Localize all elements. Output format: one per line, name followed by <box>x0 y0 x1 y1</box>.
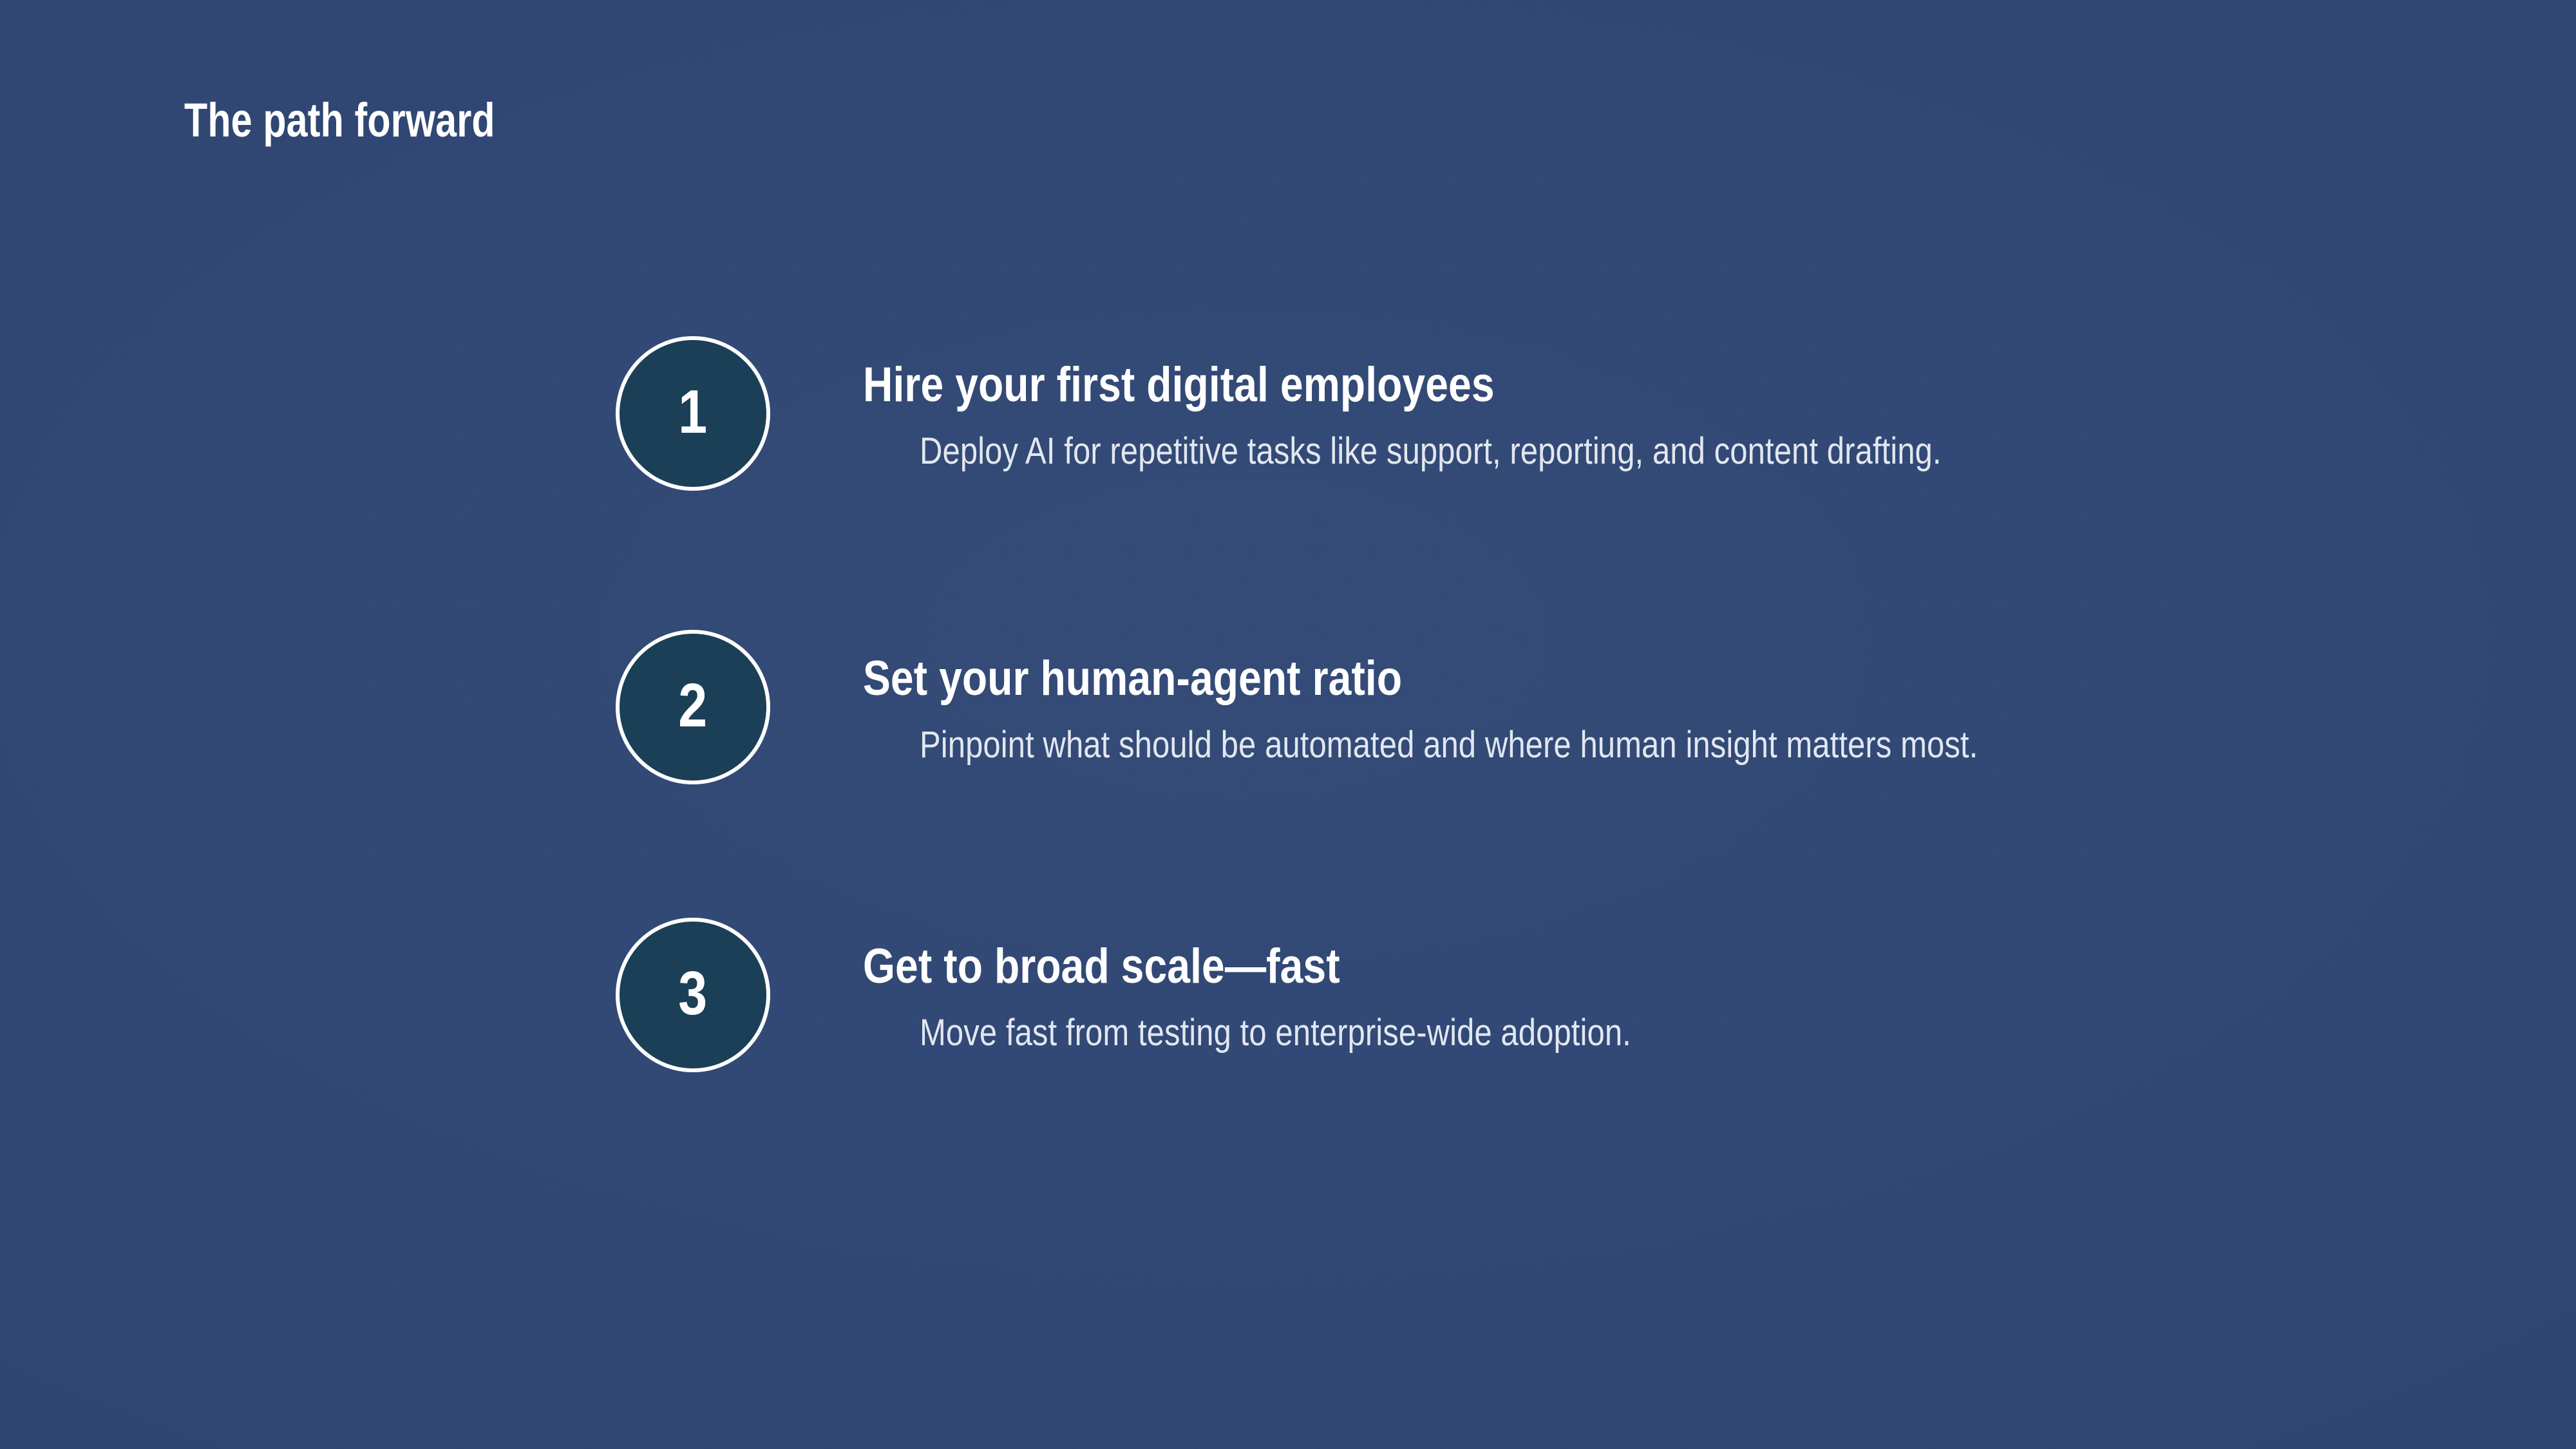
step-description: Deploy AI for repetitive tasks like supp… <box>920 429 2123 475</box>
step-content-3: Get to broad scale—fast Move fast from t… <box>863 942 2344 1056</box>
step-badge-3: 3 <box>616 918 770 1072</box>
step-description: Pinpoint what should be automated and wh… <box>920 723 2123 768</box>
step-badge-1: 1 <box>616 336 770 491</box>
step-content-1: Hire your first digital employees Deploy… <box>863 361 2344 475</box>
step-badge-2: 2 <box>616 630 770 784</box>
presentation-slide: The path forward 1 Hire your first digit… <box>0 0 2576 1449</box>
step-content-2: Set your human-agent ratio Pinpoint what… <box>863 654 2344 768</box>
step-number-label: 1 <box>679 381 708 443</box>
step-number-label: 2 <box>679 675 708 737</box>
step-number-label: 3 <box>679 963 708 1025</box>
step-heading: Hire your first digital employees <box>863 361 2115 410</box>
step-heading: Get to broad scale—fast <box>863 942 2115 991</box>
page-title: The path forward <box>184 95 495 146</box>
step-description: Move fast from testing to enterprise-wid… <box>920 1010 2123 1056</box>
step-heading: Set your human-agent ratio <box>863 654 2115 703</box>
